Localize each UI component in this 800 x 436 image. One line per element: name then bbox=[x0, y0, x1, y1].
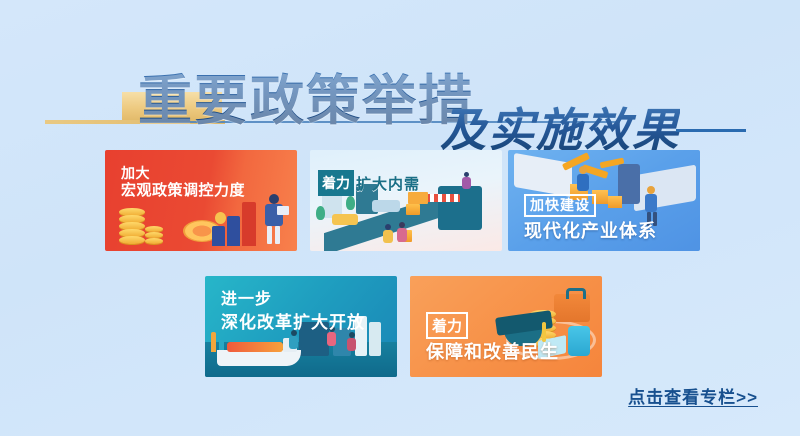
bar-3 bbox=[242, 202, 256, 246]
machine-left bbox=[514, 153, 572, 197]
tower-2 bbox=[369, 322, 381, 356]
package-1 bbox=[406, 204, 420, 215]
tree-1 bbox=[346, 196, 355, 210]
card-minsheng-boxed: 着力 bbox=[426, 312, 468, 339]
briefcase-handle bbox=[566, 288, 586, 299]
card-minsheng-caption: 着力 bbox=[426, 312, 471, 339]
dock-bar-1 bbox=[211, 332, 216, 352]
car-blue bbox=[372, 200, 400, 212]
card-kuodaneixu-plain: 扩大内需 bbox=[356, 173, 420, 194]
card-kuodaneixu-boxed: 着力 bbox=[318, 170, 354, 196]
shop-building bbox=[438, 186, 482, 230]
banner-title-zone: 重要政策举措 及实施效果 bbox=[0, 24, 800, 144]
card-chanyetixi-line1: 加快建设 bbox=[524, 194, 596, 217]
card-gaige-caption: 进一步 深化改革扩大开放 bbox=[221, 290, 365, 333]
card-chanyetixi[interactable]: 加快建设 现代化产业体系 bbox=[508, 150, 700, 251]
bar-2 bbox=[227, 216, 240, 246]
card-jiada-line2: 宏观政策调控力度 bbox=[121, 182, 245, 200]
tree-2 bbox=[316, 206, 325, 220]
card-gaige[interactable]: 进一步 深化改革扩大开放 bbox=[205, 276, 397, 377]
policy-measures-banner: 重要政策举措 及实施效果 加大 宏观政策调控力度 bbox=[0, 0, 800, 436]
car-yellow bbox=[332, 214, 358, 225]
view-column-link[interactable]: 点击查看专栏>> bbox=[628, 383, 758, 408]
card-gaige-line1: 进一步 bbox=[221, 290, 365, 310]
medicine-bottle-icon bbox=[568, 326, 590, 356]
shop-awning bbox=[426, 194, 460, 202]
title-tail-rule bbox=[676, 129, 746, 132]
card-minsheng-line2: 保障和改善民生 bbox=[426, 338, 559, 364]
card-jiada-line1: 加大 bbox=[121, 165, 245, 182]
bar-1 bbox=[212, 226, 225, 246]
card-minsheng[interactable]: 着力 保障和改善民生 bbox=[410, 276, 602, 377]
card-kuodaneixu[interactable]: 着力 扩大内需 bbox=[310, 150, 502, 251]
card-jiada-caption: 加大 宏观政策调控力度 bbox=[121, 165, 245, 200]
card-chanyetixi-caption: 加快建设 现代化产业体系 bbox=[524, 194, 657, 243]
bar-chart-icon bbox=[215, 212, 226, 224]
card-chanyetixi-line2: 现代化产业体系 bbox=[524, 221, 657, 243]
card-gaige-line2: 深化改革扩大开放 bbox=[221, 313, 365, 334]
card-kuodaneixu-caption: 着力 扩大内需 bbox=[318, 170, 420, 196]
page-title-line1: 重要政策举措 bbox=[138, 56, 474, 135]
card-jiada[interactable]: 加大 宏观政策调控力度 bbox=[105, 150, 297, 251]
